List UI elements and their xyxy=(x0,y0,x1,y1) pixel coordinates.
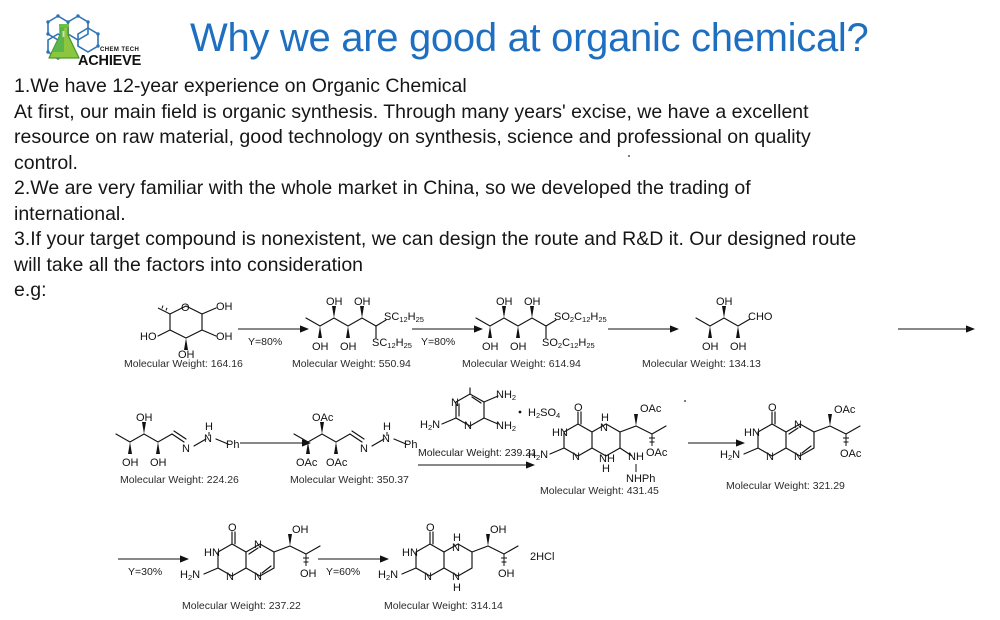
copy-line-8: will take all the factors into considera… xyxy=(14,253,994,279)
copy-line-6: international. xyxy=(14,202,994,228)
structure-deoxy-aldehyde: OH OH OH CHO xyxy=(690,296,800,358)
copy-line-4: control. xyxy=(14,151,994,177)
atom-oh: OH xyxy=(216,331,233,343)
mw-label: Molecular Weight: 224.26 xyxy=(120,474,239,486)
atom-oh: OH xyxy=(326,296,343,308)
atom-oac: OAc xyxy=(326,457,348,469)
slide-canvas: CHEM TECH ACHIEVE Why we are good at org… xyxy=(0,0,1000,620)
atom-n: N xyxy=(794,451,802,463)
atom-ph: Ph xyxy=(404,439,417,451)
copy-line-2: At first, our main field is organic synt… xyxy=(14,100,994,126)
yield-label: Y=30% xyxy=(128,566,162,578)
page-title: Why we are good at organic chemical? xyxy=(190,12,990,64)
atom-h2n: H2N xyxy=(420,419,440,432)
reaction-scheme: O OH OH OH HO Molecular Weight: 164.16 xyxy=(0,288,1000,620)
atom-h2n: H2N xyxy=(378,569,398,582)
atom-h: H xyxy=(453,582,461,594)
atom-oh: OH xyxy=(496,296,513,308)
atom-nh2: NH2 xyxy=(496,420,516,433)
atom-n: N xyxy=(204,433,212,445)
yield-label: Y=60% xyxy=(326,566,360,578)
copy-line-1: 1.We have 12-year experience on Organic … xyxy=(14,74,994,100)
atom-oac: OAc xyxy=(840,448,862,460)
atom-oac: OAc xyxy=(640,403,662,415)
atom-hn: HN xyxy=(204,547,220,559)
atom-n: N xyxy=(464,420,472,432)
atom-nh: NH xyxy=(628,451,644,463)
atom-n: N xyxy=(254,539,262,551)
atom-ho: HO xyxy=(140,331,157,343)
structure-rhamnose-pyranose: O OH OH OH HO xyxy=(140,296,250,358)
structure-phenylhydrazone-triol: OH OH OH N N H Ph xyxy=(110,406,250,476)
reaction-arrow xyxy=(418,458,536,472)
atom-oh: OH xyxy=(524,296,541,308)
atom-o: O xyxy=(574,402,583,414)
body-copy: 1.We have 12-year experience on Organic … xyxy=(14,74,994,304)
atom-oh: OH xyxy=(292,524,309,536)
mw-label: Molecular Weight: 134.13 xyxy=(642,358,761,370)
atom-oh: OH xyxy=(312,341,329,353)
atom-oh: OH xyxy=(716,296,733,308)
atom-n: N xyxy=(451,397,459,409)
mw-label: Molecular Weight: 614.94 xyxy=(462,358,581,370)
hash-wedge xyxy=(303,554,309,566)
reaction-arrow xyxy=(608,322,680,336)
copy-line-7: 3.If your target compound is nonexistent… xyxy=(14,227,994,253)
atom-n: N xyxy=(254,571,262,583)
structure-tetrahydrobiopterin: HN N O H2N H N N H OH O xyxy=(388,516,568,600)
reaction-arrow xyxy=(318,552,390,566)
logo-graphic: CHEM TECH ACHIEVE xyxy=(38,6,146,70)
artifact-dot xyxy=(628,155,630,157)
atom-n: N xyxy=(424,571,432,583)
structure-dithioacetal: OH OH OH OH SC12H25 SC12H25 xyxy=(300,296,426,358)
atom-o: O xyxy=(181,302,190,314)
atom-oh: OH xyxy=(730,341,747,353)
atom-n: N xyxy=(182,443,190,455)
atom-n: N xyxy=(226,571,234,583)
flask-icon xyxy=(49,24,79,58)
atom-n: N xyxy=(452,542,460,554)
atom-so2c12h25: SO2C12H25 xyxy=(542,337,595,350)
mw-label: Molecular Weight: 314.14 xyxy=(384,600,503,612)
yield-label: Y=80% xyxy=(248,336,282,348)
atom-oac: OAc xyxy=(312,412,334,424)
atom-sc12h25: SC12H25 xyxy=(372,337,412,350)
atom-oh: OH xyxy=(354,296,371,308)
atom-oh: OH xyxy=(300,568,317,580)
copy-line-3: resource on raw material, good technolog… xyxy=(14,125,994,151)
atom-h2n: H2N xyxy=(528,449,548,462)
company-logo: CHEM TECH ACHIEVE xyxy=(38,6,146,70)
mw-label: Molecular Weight: 550.94 xyxy=(292,358,411,370)
atom-n: N xyxy=(794,419,802,431)
atom-hn: HN xyxy=(744,427,760,439)
yield-label: Y=80% xyxy=(421,336,455,348)
hash-wedge xyxy=(158,306,170,315)
atom-oh: OH xyxy=(136,412,153,424)
atom-oh: OH xyxy=(510,341,527,353)
atom-oh: OH xyxy=(216,301,233,313)
hash-wedge xyxy=(843,434,849,446)
atom-oac: OAc xyxy=(296,457,318,469)
reaction-arrow xyxy=(898,322,976,336)
copy-line-5: 2.We are very familiar with the whole ma… xyxy=(14,176,994,202)
atom-oac: OAc xyxy=(834,404,856,416)
atom-n: N xyxy=(382,433,390,445)
atom-oh: OH xyxy=(498,568,515,580)
atom-oh: OH xyxy=(482,341,499,353)
reaction-arrow xyxy=(118,552,190,566)
mw-label: Molecular Weight: 350.37 xyxy=(290,474,409,486)
atom-n: N xyxy=(360,443,368,455)
atom-oh: OH xyxy=(702,341,719,353)
atom-o: O xyxy=(228,522,237,534)
atom-so2c12h25: SO2C12H25 xyxy=(554,311,607,324)
atom-n: N xyxy=(572,451,580,463)
logo-brand: ACHIEVE xyxy=(78,53,142,69)
atom-oh: OH xyxy=(490,524,507,536)
hash-wedge xyxy=(501,554,507,566)
atom-h2n: H2N xyxy=(180,569,200,582)
mw-label: Molecular Weight: 237.22 xyxy=(182,600,301,612)
atom-cho: CHO xyxy=(748,311,773,323)
atom-h: H xyxy=(205,421,213,433)
atom-hn: HN xyxy=(552,427,568,439)
atom-ph: Ph xyxy=(226,439,239,451)
atom-hn: HN xyxy=(402,547,418,559)
atom-o: O xyxy=(426,522,435,534)
atom-o: O xyxy=(768,402,777,414)
atom-nh2: NH2 xyxy=(496,389,516,402)
atom-h2n: H2N xyxy=(720,449,740,462)
atom-n: N xyxy=(766,451,774,463)
structure-disulfone: OH OH OH OH SO2C12H25 SO2C12H25 xyxy=(470,296,616,358)
atom-oh: OH xyxy=(340,341,357,353)
hash-wedge xyxy=(649,434,655,446)
atom-h: H xyxy=(602,463,610,475)
atom-nhph: NHPh xyxy=(626,473,655,485)
atom-oh: OH xyxy=(122,457,139,469)
atom-2hcl: 2HCl xyxy=(530,551,554,563)
structure-pterin-diacetate: HN N O H2N N N OAc xyxy=(730,400,910,480)
atom-oh: OH xyxy=(150,457,167,469)
atom-h: H xyxy=(383,421,391,433)
atom-n: N xyxy=(600,422,608,434)
mw-label: Molecular Weight: 431.45 xyxy=(540,485,659,497)
mw-label: Molecular Weight: 164.16 xyxy=(124,358,243,370)
structure-phenylhydrazone-triacetate: OAc OAc OAc N N H Ph xyxy=(288,406,428,476)
atom-oac: OAc xyxy=(646,447,668,459)
mw-label: Molecular Weight: 321.29 xyxy=(726,480,845,492)
